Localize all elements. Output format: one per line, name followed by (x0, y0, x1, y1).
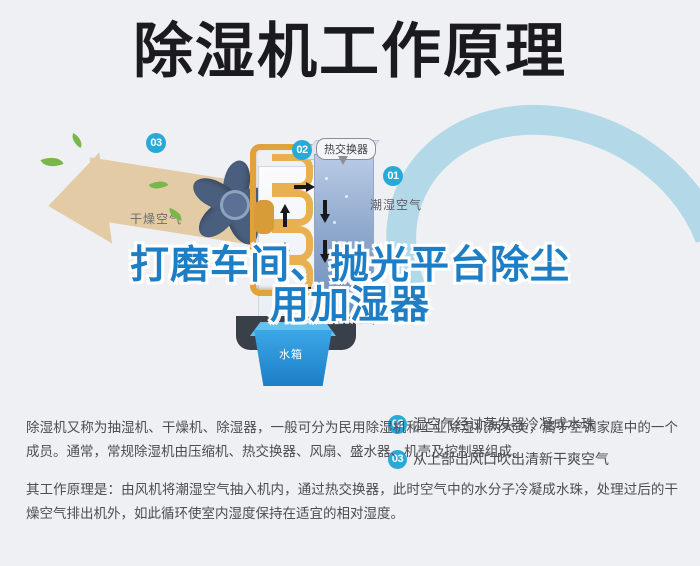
evaporator-fin-block (314, 154, 374, 324)
paragraph-1: 除湿机又称为抽湿机、干燥机、除湿器，一般可分为民用除湿机和工业除湿机两大类，属于… (26, 416, 678, 464)
badge-02: 02 (292, 140, 312, 160)
dehumidifier-infographic: 除湿机工作原理 干燥空气 (0, 0, 700, 566)
leaf-icon (69, 133, 86, 148)
airflow-arrow-stem (283, 251, 287, 265)
badge-03: 03 (146, 133, 166, 153)
airflow-arrow-stem (323, 240, 327, 254)
badge-01: 01 (383, 166, 403, 186)
condensation-droplet (339, 305, 342, 308)
condensation-droplet (345, 195, 348, 198)
title-primary: 除湿机 (133, 18, 319, 85)
description-block: 除湿机又称为抽湿机、干燥机、除湿器，一般可分为民用除湿机和工业除湿机两大类，属于… (26, 416, 678, 540)
humid-air-label: 潮湿空气 (370, 196, 422, 213)
coil-loop (272, 226, 313, 262)
airflow-arrow-stem (297, 287, 311, 291)
condensation-droplet (333, 221, 336, 224)
condensation-droplet (357, 243, 360, 246)
illustration-stage: 干燥空气 (0, 118, 700, 408)
water-tank-label: 水箱 (279, 346, 303, 362)
condensation-droplet (329, 265, 332, 268)
coil-loop (272, 190, 313, 226)
paragraph-2: 其工作原理是：由风机将潮湿空气抽入机内，通过热交换器，此时空气中的水分子冷凝成水… (26, 478, 678, 526)
airflow-arrow-up-icon (280, 204, 290, 213)
compressor-icon (254, 200, 274, 234)
airflow-arrow-stem (323, 200, 327, 214)
condensation-droplet (349, 287, 352, 290)
callout-pointer-icon (338, 156, 348, 165)
airflow-arrow-down-icon (320, 254, 330, 263)
airflow-arrow-left-icon (288, 284, 297, 294)
fan-hub (220, 190, 250, 220)
page-title: 除湿机工作原理 (0, 22, 700, 82)
airflow-arrow-stem (283, 213, 287, 227)
airflow-arrow-down-icon (320, 214, 330, 223)
condensation-droplet (325, 177, 328, 180)
airflow-arrow-up-icon (280, 242, 290, 251)
title-secondary: 工作原理 (319, 18, 567, 85)
airflow-arrow-stem (294, 185, 308, 189)
